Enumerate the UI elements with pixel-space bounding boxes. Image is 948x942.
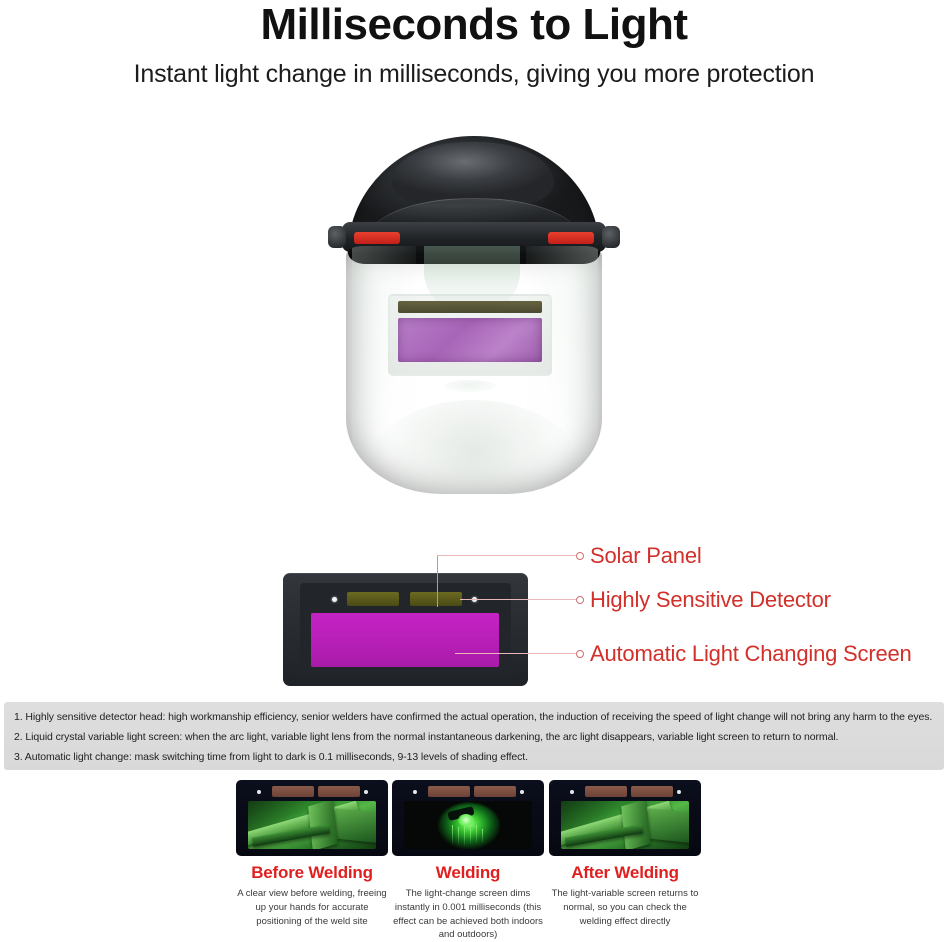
thumb-solar-left-3 <box>585 786 627 797</box>
helmet-pivot-knob-right <box>602 226 620 248</box>
thumb-view-clear-3 <box>561 801 689 849</box>
thumb-solar-right-1 <box>318 786 360 797</box>
welding-helmet-illustration <box>296 136 652 508</box>
visor-chin-highlight <box>444 380 496 392</box>
callout-label-solar-panel: Solar Panel <box>590 543 702 569</box>
thumb-sensor-right-1 <box>364 790 368 794</box>
thumb-sensor-left-1 <box>257 790 261 794</box>
thumb-sensor-right-2 <box>520 790 524 794</box>
thumb-solar-left-1 <box>272 786 314 797</box>
helmet-pivot-knob-left <box>328 226 346 248</box>
info-line-1: 1. Highly sensitive detector head: high … <box>14 711 932 723</box>
thumb-solar-right-2 <box>474 786 516 797</box>
callout-label-detector: Highly Sensitive Detector <box>590 587 831 613</box>
arc-spark <box>482 829 483 844</box>
thumb-sensor-left-2 <box>413 790 417 794</box>
callout-leader-screen <box>455 653 578 654</box>
welding-stage-comparison: Before Welding A clear view before weldi… <box>0 780 948 925</box>
cartridge-faceplate <box>300 583 511 677</box>
arc-spark <box>458 827 459 845</box>
stage-panel-welding: Welding The light-change screen dims ins… <box>392 780 544 942</box>
helmet-lens-screen <box>398 318 542 362</box>
helmet-lens-frame <box>388 294 552 376</box>
headband-red-accent-right <box>548 232 594 244</box>
info-line-2: 2. Liquid crystal variable light screen:… <box>14 731 838 743</box>
arc-spark <box>476 825 477 844</box>
panel-caption-welding: The light-change screen dims instantly i… <box>392 887 544 942</box>
solar-panel-cell-left <box>347 592 399 606</box>
panel-title-welding: Welding <box>392 863 544 883</box>
arc-spark <box>452 825 453 845</box>
panel-caption-after-welding: The light-variable screen returns to nor… <box>549 887 701 928</box>
thumb-view-arc-2 <box>404 801 532 849</box>
callout-dot-solar <box>576 552 584 560</box>
arc-spark <box>470 828 471 845</box>
detector-sensor-left <box>332 597 337 602</box>
callout-leader-vertical-solar <box>437 555 438 607</box>
hero-product-image <box>0 128 948 518</box>
helmet-lens-solar-strip <box>398 301 542 313</box>
solar-panel-cell-right <box>410 592 462 606</box>
thumb-solar-left-2 <box>428 786 470 797</box>
page-subtitle: Instant light change in milliseconds, gi… <box>0 48 948 89</box>
panel-title-before-welding: Before Welding <box>236 863 388 883</box>
callout-label-screen: Automatic Light Changing Screen <box>590 641 912 667</box>
info-line-3: 3. Automatic light change: mask switchin… <box>14 751 528 763</box>
thumb-welding <box>392 780 544 856</box>
panel-caption-before-welding: A clear view before welding, freeing up … <box>236 887 388 928</box>
thumb-sensor-left-3 <box>570 790 574 794</box>
arc-flash-core <box>458 814 474 826</box>
weld-metal-plate <box>333 808 376 843</box>
lens-cartridge <box>283 573 528 686</box>
features-info-box: 1. Highly sensitive detector head: high … <box>4 702 944 770</box>
callout-leader-solar <box>437 555 578 556</box>
thumb-view-clear-1 <box>248 801 376 849</box>
page-header: Milliseconds to Light Instant light chan… <box>0 0 948 89</box>
callout-leader-detector <box>460 599 578 600</box>
lens-cartridge-diagram: Solar Panel Highly Sensitive Detector Au… <box>0 530 948 690</box>
thumb-solar-right-3 <box>631 786 673 797</box>
auto-light-changing-screen <box>311 613 499 667</box>
thumb-after-welding <box>549 780 701 856</box>
weld-metal-plate <box>646 808 689 843</box>
stage-panel-before-welding: Before Welding A clear view before weldi… <box>236 780 388 928</box>
page-title: Milliseconds to Light <box>0 0 948 48</box>
callout-dot-detector <box>576 596 584 604</box>
stage-panel-after-welding: After Welding The light-variable screen … <box>549 780 701 928</box>
panel-title-after-welding: After Welding <box>549 863 701 883</box>
arc-spark <box>464 826 465 847</box>
callout-dot-screen <box>576 650 584 658</box>
thumb-before-welding <box>236 780 388 856</box>
headband-red-accent-left <box>354 232 400 244</box>
thumb-sensor-right-3 <box>677 790 681 794</box>
